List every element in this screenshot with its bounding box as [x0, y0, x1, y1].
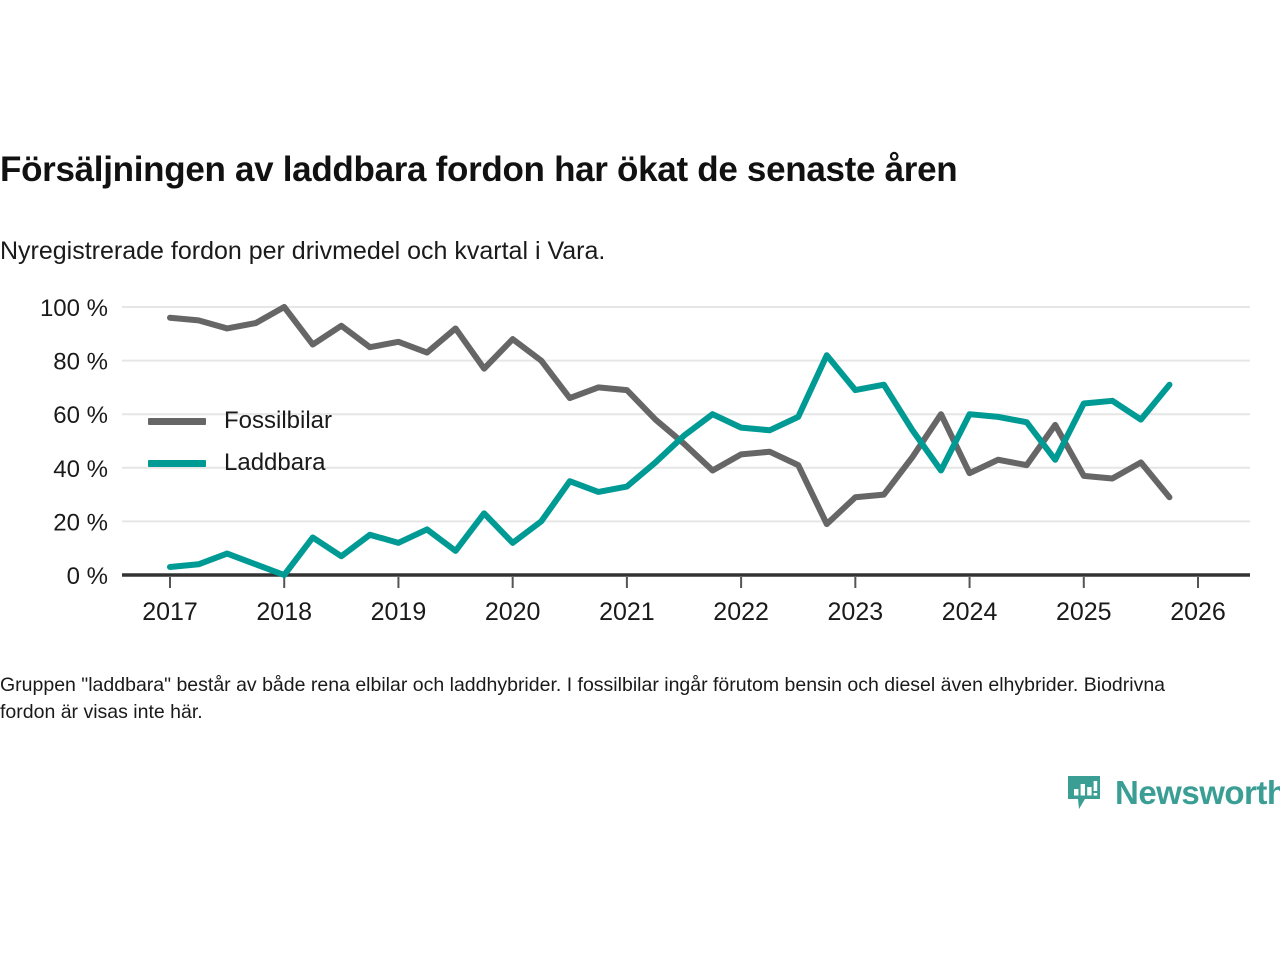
x-axis-tick-label: 2025	[1056, 598, 1112, 626]
legend-swatch-fossilbilar	[148, 418, 206, 425]
chart-page: Försäljningen av laddbara fordon har öka…	[0, 0, 1280, 960]
x-axis-tick-label: 2024	[942, 598, 998, 626]
y-axis-tick-label: 80 %	[53, 349, 108, 376]
page-title: Försäljningen av laddbara fordon har öka…	[0, 148, 1240, 192]
legend-label-laddbara: Laddbara	[224, 451, 325, 475]
x-axis-tick-label: 2017	[142, 598, 198, 626]
x-axis-tick-label: 2020	[485, 598, 541, 626]
chart-subtitle: Nyregistrerade fordon per drivmedel och …	[0, 235, 1240, 267]
y-axis-tick-label: 100 %	[40, 295, 108, 322]
y-axis-tick-label: 40 %	[53, 456, 108, 483]
y-axis-tick-label: 60 %	[53, 402, 108, 429]
x-axis-tick-label: 2021	[599, 598, 655, 626]
legend-item-laddbara: Laddbara	[148, 442, 468, 484]
legend-swatch-laddbara	[148, 460, 206, 467]
y-axis-tick-label: 20 %	[53, 509, 108, 536]
newsworthy-logo: Newsworthy	[1064, 772, 1280, 812]
legend-item-fossilbilar: Fossilbilar	[148, 400, 468, 442]
x-axis-tick-label: 2019	[371, 598, 427, 626]
chart-legend: Fossilbilar Laddbara	[148, 400, 468, 484]
x-axis-tick-label: 2023	[828, 598, 884, 626]
chart-footnote: Gruppen "laddbara" består av både rena e…	[0, 672, 1215, 726]
y-axis-tick-label: 0 %	[67, 563, 108, 590]
x-axis-tick-label: 2018	[256, 598, 312, 626]
x-axis-tick-label: 2026	[1170, 598, 1226, 626]
x-axis-tick-label: 2022	[713, 598, 769, 626]
brand-name: Newsworthy	[1115, 776, 1280, 809]
legend-label-fossilbilar: Fossilbilar	[224, 409, 332, 433]
bar-chart-speech-bubble-icon	[1064, 772, 1104, 812]
